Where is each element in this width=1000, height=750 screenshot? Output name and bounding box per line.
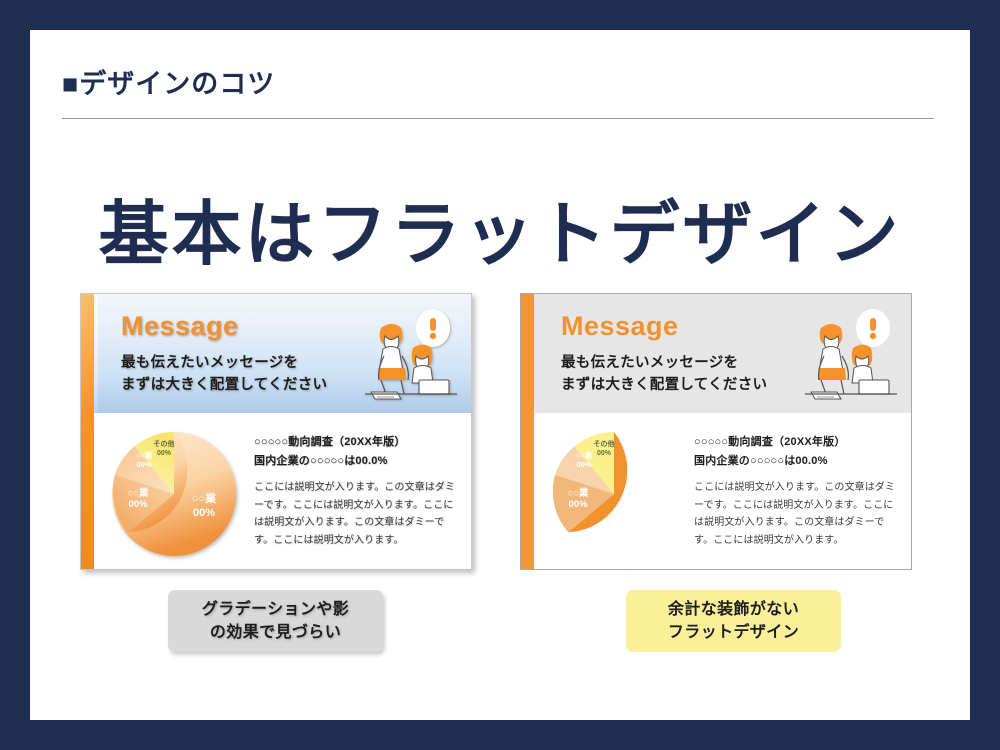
card-header-band: Message 最も伝えたいメッセージを まずは大きく配置してください — [94, 294, 471, 413]
svg-text:○○業: ○○業 — [128, 487, 149, 499]
message-title: Message — [121, 311, 239, 342]
svg-text:○○業: ○○業 — [192, 491, 217, 505]
card-accent-bar — [521, 294, 534, 569]
page-title: ■デザインのコツ — [62, 62, 938, 101]
card-body: ○○業 00% ○○業 00% ○○業 00% その他 00% — [94, 413, 471, 569]
svg-text:00%: 00% — [576, 460, 591, 469]
caption-gradient: グラデーションや影 の効果で見づらい — [168, 590, 383, 652]
card-text-block: ○○○○○動向調査（20XX年版） 国内企業の○○○○○は00.0% ここには説… — [694, 433, 899, 549]
card-text-block: ○○○○○動向調査（20XX年版） 国内企業の○○○○○は00.0% ここには説… — [254, 433, 459, 549]
svg-text:00%: 00% — [633, 507, 655, 519]
svg-text:00%: 00% — [597, 450, 612, 457]
card-accent-bar — [81, 294, 94, 569]
svg-text:その他: その他 — [154, 439, 175, 448]
two-people-presenting-illustration — [781, 306, 901, 406]
svg-text:00%: 00% — [157, 450, 172, 457]
pie-chart-flat: ○○業 00% ○○業 00% ○○業 00% その他 00% — [542, 419, 694, 569]
svg-text:○○業: ○○業 — [632, 491, 657, 505]
card-gradient-example: Message 最も伝えたいメッセージを まずは大きく配置してください — [80, 293, 472, 570]
message-subtitle: 最も伝えたいメッセージを まずは大きく配置してください — [121, 352, 327, 397]
main-title: 基本はフラットデザイン — [30, 178, 970, 279]
message-title: Message — [561, 311, 679, 342]
svg-text:00%: 00% — [193, 507, 215, 519]
svg-text:00%: 00% — [136, 460, 151, 469]
header-divider — [62, 118, 934, 119]
message-subtitle: 最も伝えたいメッセージを まずは大きく配置してください — [561, 352, 767, 397]
caption-flat: 余計な装飾がない フラットデザイン — [626, 590, 841, 652]
svg-text:○○業: ○○業 — [568, 487, 589, 499]
body-paragraph: ここには説明文が入ります。この文章はダミーです。ここには説明文が入ります。ここに… — [254, 479, 459, 549]
two-people-presenting-illustration — [341, 306, 461, 406]
svg-text:00%: 00% — [128, 499, 148, 510]
pie-chart-gradient: ○○業 00% ○○業 00% ○○業 00% その他 00% — [102, 419, 254, 569]
card-header-band: Message 最も伝えたいメッセージを まずは大きく配置してください — [534, 294, 911, 413]
body-heading: ○○○○○動向調査（20XX年版） 国内企業の○○○○○は00.0% — [694, 433, 899, 470]
svg-text:その他: その他 — [594, 439, 615, 448]
body-paragraph: ここには説明文が入ります。この文章はダミーです。ここには説明文が入ります。ここに… — [694, 479, 899, 549]
svg-text:00%: 00% — [568, 499, 588, 510]
slide-header: ■デザインのコツ — [62, 62, 938, 101]
svg-text:○○業: ○○業 — [576, 450, 593, 460]
card-body: ○○業 00% ○○業 00% ○○業 00% その他 00% — [534, 413, 911, 569]
slide: ■デザインのコツ 基本はフラットデザイン Message 最も伝えたいメッセージ… — [30, 30, 970, 720]
card-flat-example: Message 最も伝えたいメッセージを まずは大きく配置してください — [520, 293, 912, 570]
body-heading: ○○○○○動向調査（20XX年版） 国内企業の○○○○○は00.0% — [254, 433, 459, 470]
svg-text:○○業: ○○業 — [136, 450, 153, 460]
